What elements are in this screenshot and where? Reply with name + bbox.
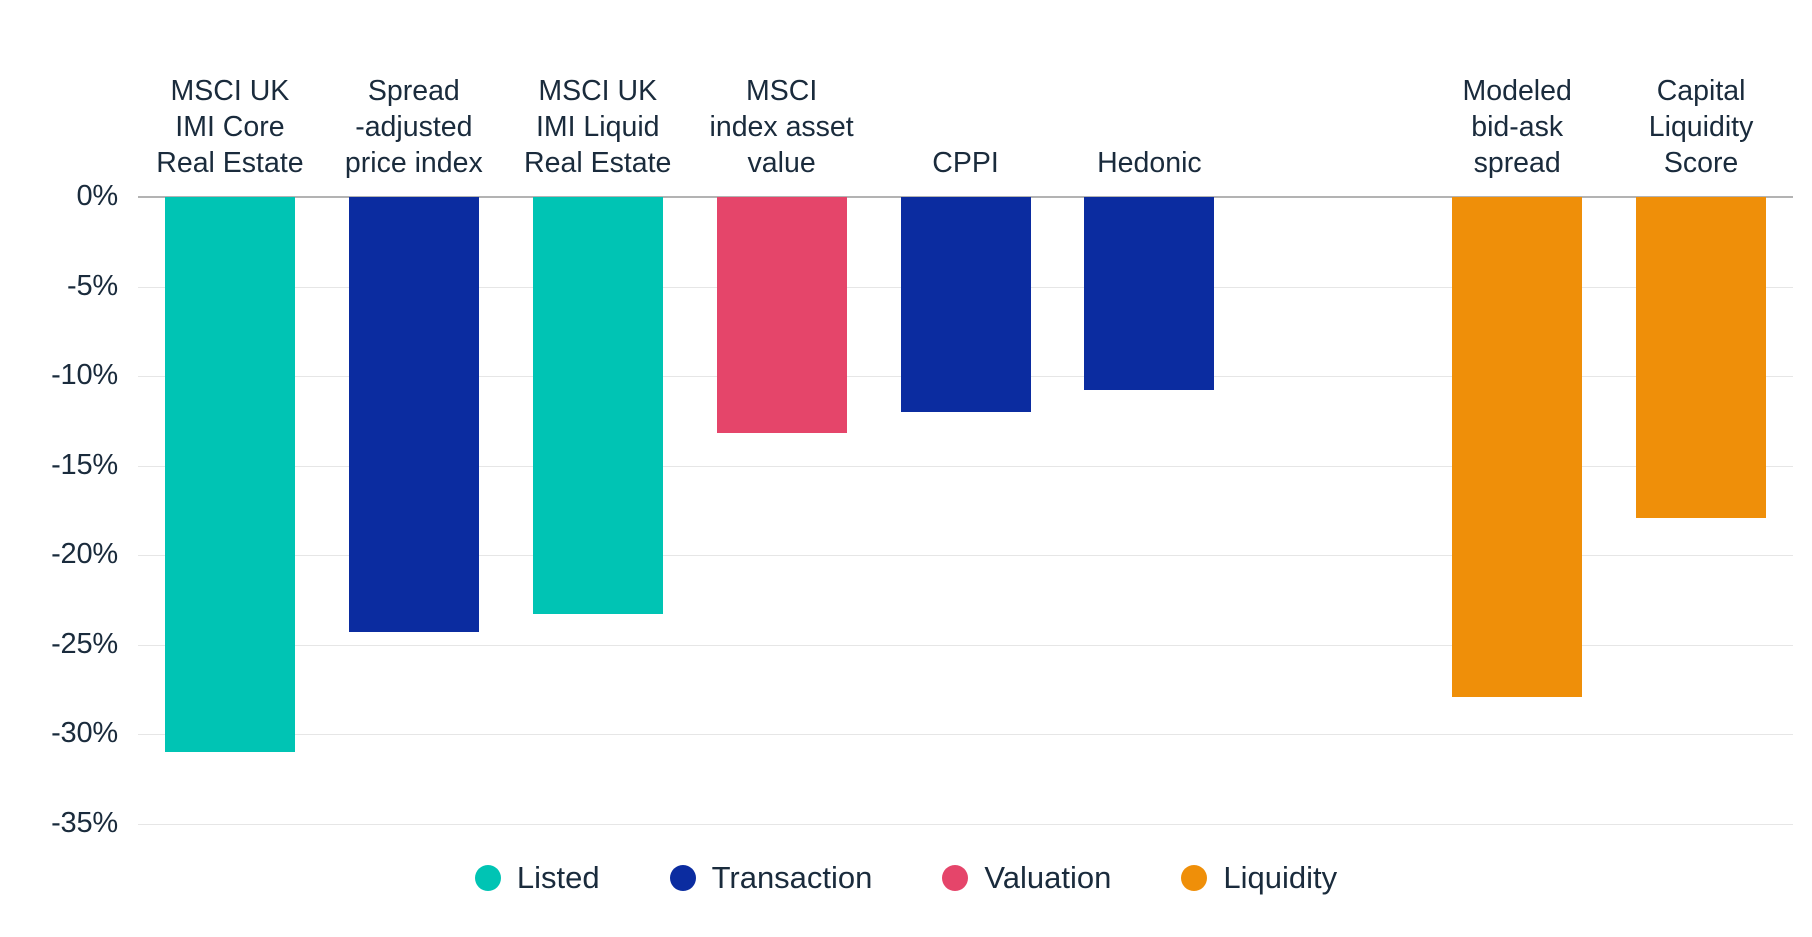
legend-swatch-circle-icon [942,865,968,891]
bar-column [1241,0,1425,824]
y-axis-tick-label: -30% [0,719,118,748]
legend-swatch-circle-icon [475,865,501,891]
y-axis-tick-label: -15% [0,451,118,480]
bar-columns: MSCI UK IMI Core Real EstateSpread -adju… [138,0,1793,824]
bar-column: Spread -adjusted price index [322,0,506,824]
bar-column: MSCI index asset value [690,0,874,824]
bar-column: MSCI UK IMI Liquid Real Estate [506,0,690,824]
bar[interactable] [1084,197,1214,390]
category-label: Hedonic [1065,145,1233,181]
category-label: Modeled bid-ask spread [1433,73,1601,181]
chart-container: 0%-5%-10%-15%-20%-25%-30%-35% MSCI UK IM… [0,0,1812,937]
bar-column: CPPI [874,0,1058,824]
category-label: MSCI UK IMI Core Real Estate [146,73,314,181]
legend-swatch-circle-icon [670,865,696,891]
bar-column: Hedonic [1057,0,1241,824]
gridline [138,824,1793,825]
category-label: MSCI index asset value [698,73,866,181]
legend-swatch-circle-icon [1181,865,1207,891]
legend-item[interactable]: Liquidity [1181,862,1337,893]
legend-label: Liquidity [1223,862,1337,893]
y-axis-tick-label: -10% [0,361,118,390]
legend-label: Transaction [712,862,873,893]
legend-item[interactable]: Valuation [942,862,1111,893]
y-axis-tick-label: -25% [0,630,118,659]
category-label: Capital Liquidity Score [1617,73,1785,181]
bar[interactable] [1452,197,1582,697]
bar[interactable] [1636,197,1766,518]
y-axis-tick-label: -35% [0,809,118,838]
chart-legend: ListedTransactionValuationLiquidity [0,862,1812,893]
bar[interactable] [165,197,295,752]
y-axis-tick-label: 0% [0,182,118,211]
bar[interactable] [533,197,663,614]
bar-column: Modeled bid-ask spread [1425,0,1609,824]
category-label: MSCI UK IMI Liquid Real Estate [514,73,682,181]
legend-item[interactable]: Transaction [670,862,873,893]
legend-item[interactable]: Listed [475,862,600,893]
legend-label: Listed [517,862,600,893]
bar-column: MSCI UK IMI Core Real Estate [138,0,322,824]
y-axis-tick-label: -20% [0,540,118,569]
category-label: Spread -adjusted price index [330,73,498,181]
y-axis-tick-label: -5% [0,272,118,301]
bar-column: Capital Liquidity Score [1609,0,1793,824]
bar[interactable] [717,197,847,433]
bar[interactable] [901,197,1031,412]
legend-label: Valuation [984,862,1111,893]
category-label: CPPI [882,145,1050,181]
bar[interactable] [349,197,479,632]
